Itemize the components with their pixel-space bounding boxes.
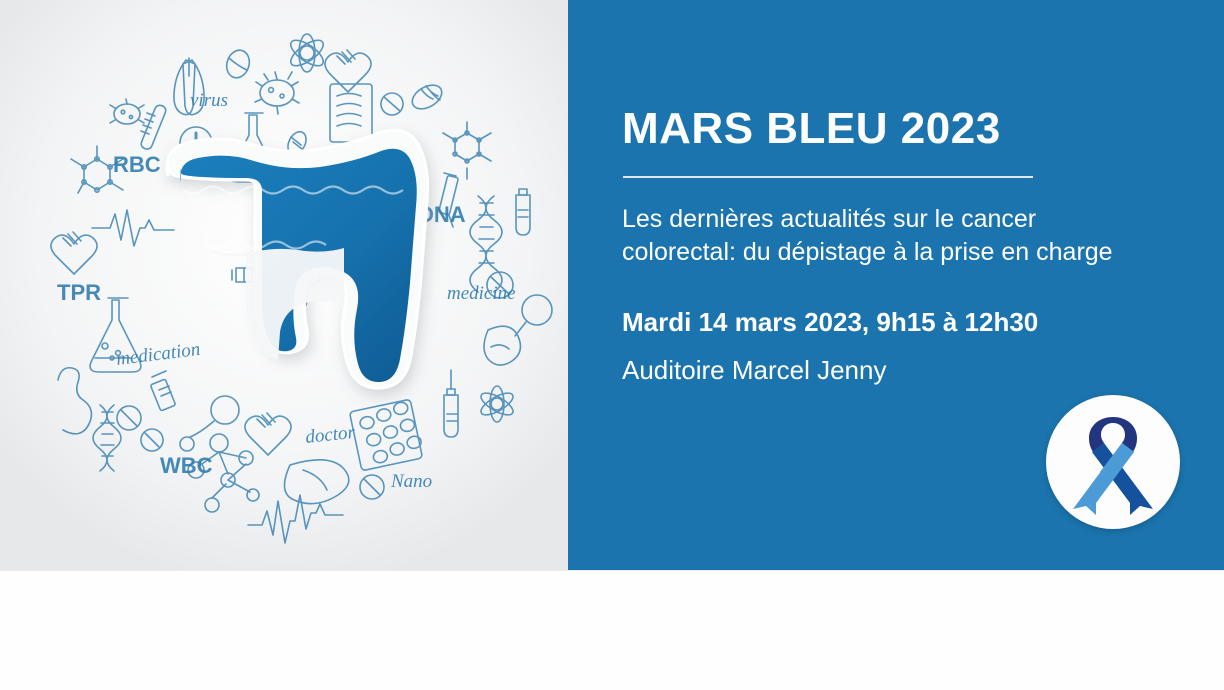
svg-text:WBC: WBC <box>160 453 213 478</box>
event-date: Mardi 14 mars 2023, 9h15 à 12h30 <box>622 307 1038 338</box>
title-divider <box>623 176 1033 178</box>
event-subtitle: Les dernières actualités sur le cancer c… <box>622 203 1192 269</box>
svg-text:Nano: Nano <box>390 471 432 492</box>
partner-logos-footer: Hôpitaux Universitaires Genève espace M … <box>0 570 1224 690</box>
event-info-panel: MARS BLEU 2023 Les dernières actualités … <box>568 0 1224 570</box>
event-subtitle-line-1: Les dernières actualités sur le cancer <box>622 203 1192 236</box>
svg-text:TPR: TPR <box>57 280 101 305</box>
svg-text:RBC: RBC <box>113 152 161 177</box>
colon-illustration: virus RBC DNA medicine TPR medication WB… <box>0 0 568 570</box>
poster-root: virus RBC DNA medicine TPR medication WB… <box>0 0 1224 690</box>
event-venue: Auditoire Marcel Jenny <box>622 355 886 386</box>
ribbon-icon <box>1046 395 1180 529</box>
svg-text:medicine: medicine <box>447 283 516 304</box>
page-title: MARS BLEU 2023 <box>622 104 1001 154</box>
svg-text:virus: virus <box>190 90 228 111</box>
event-subtitle-line-2: colorectal: du dépistage à la prise en c… <box>622 236 1192 269</box>
awareness-ribbon-badge <box>1046 395 1180 529</box>
